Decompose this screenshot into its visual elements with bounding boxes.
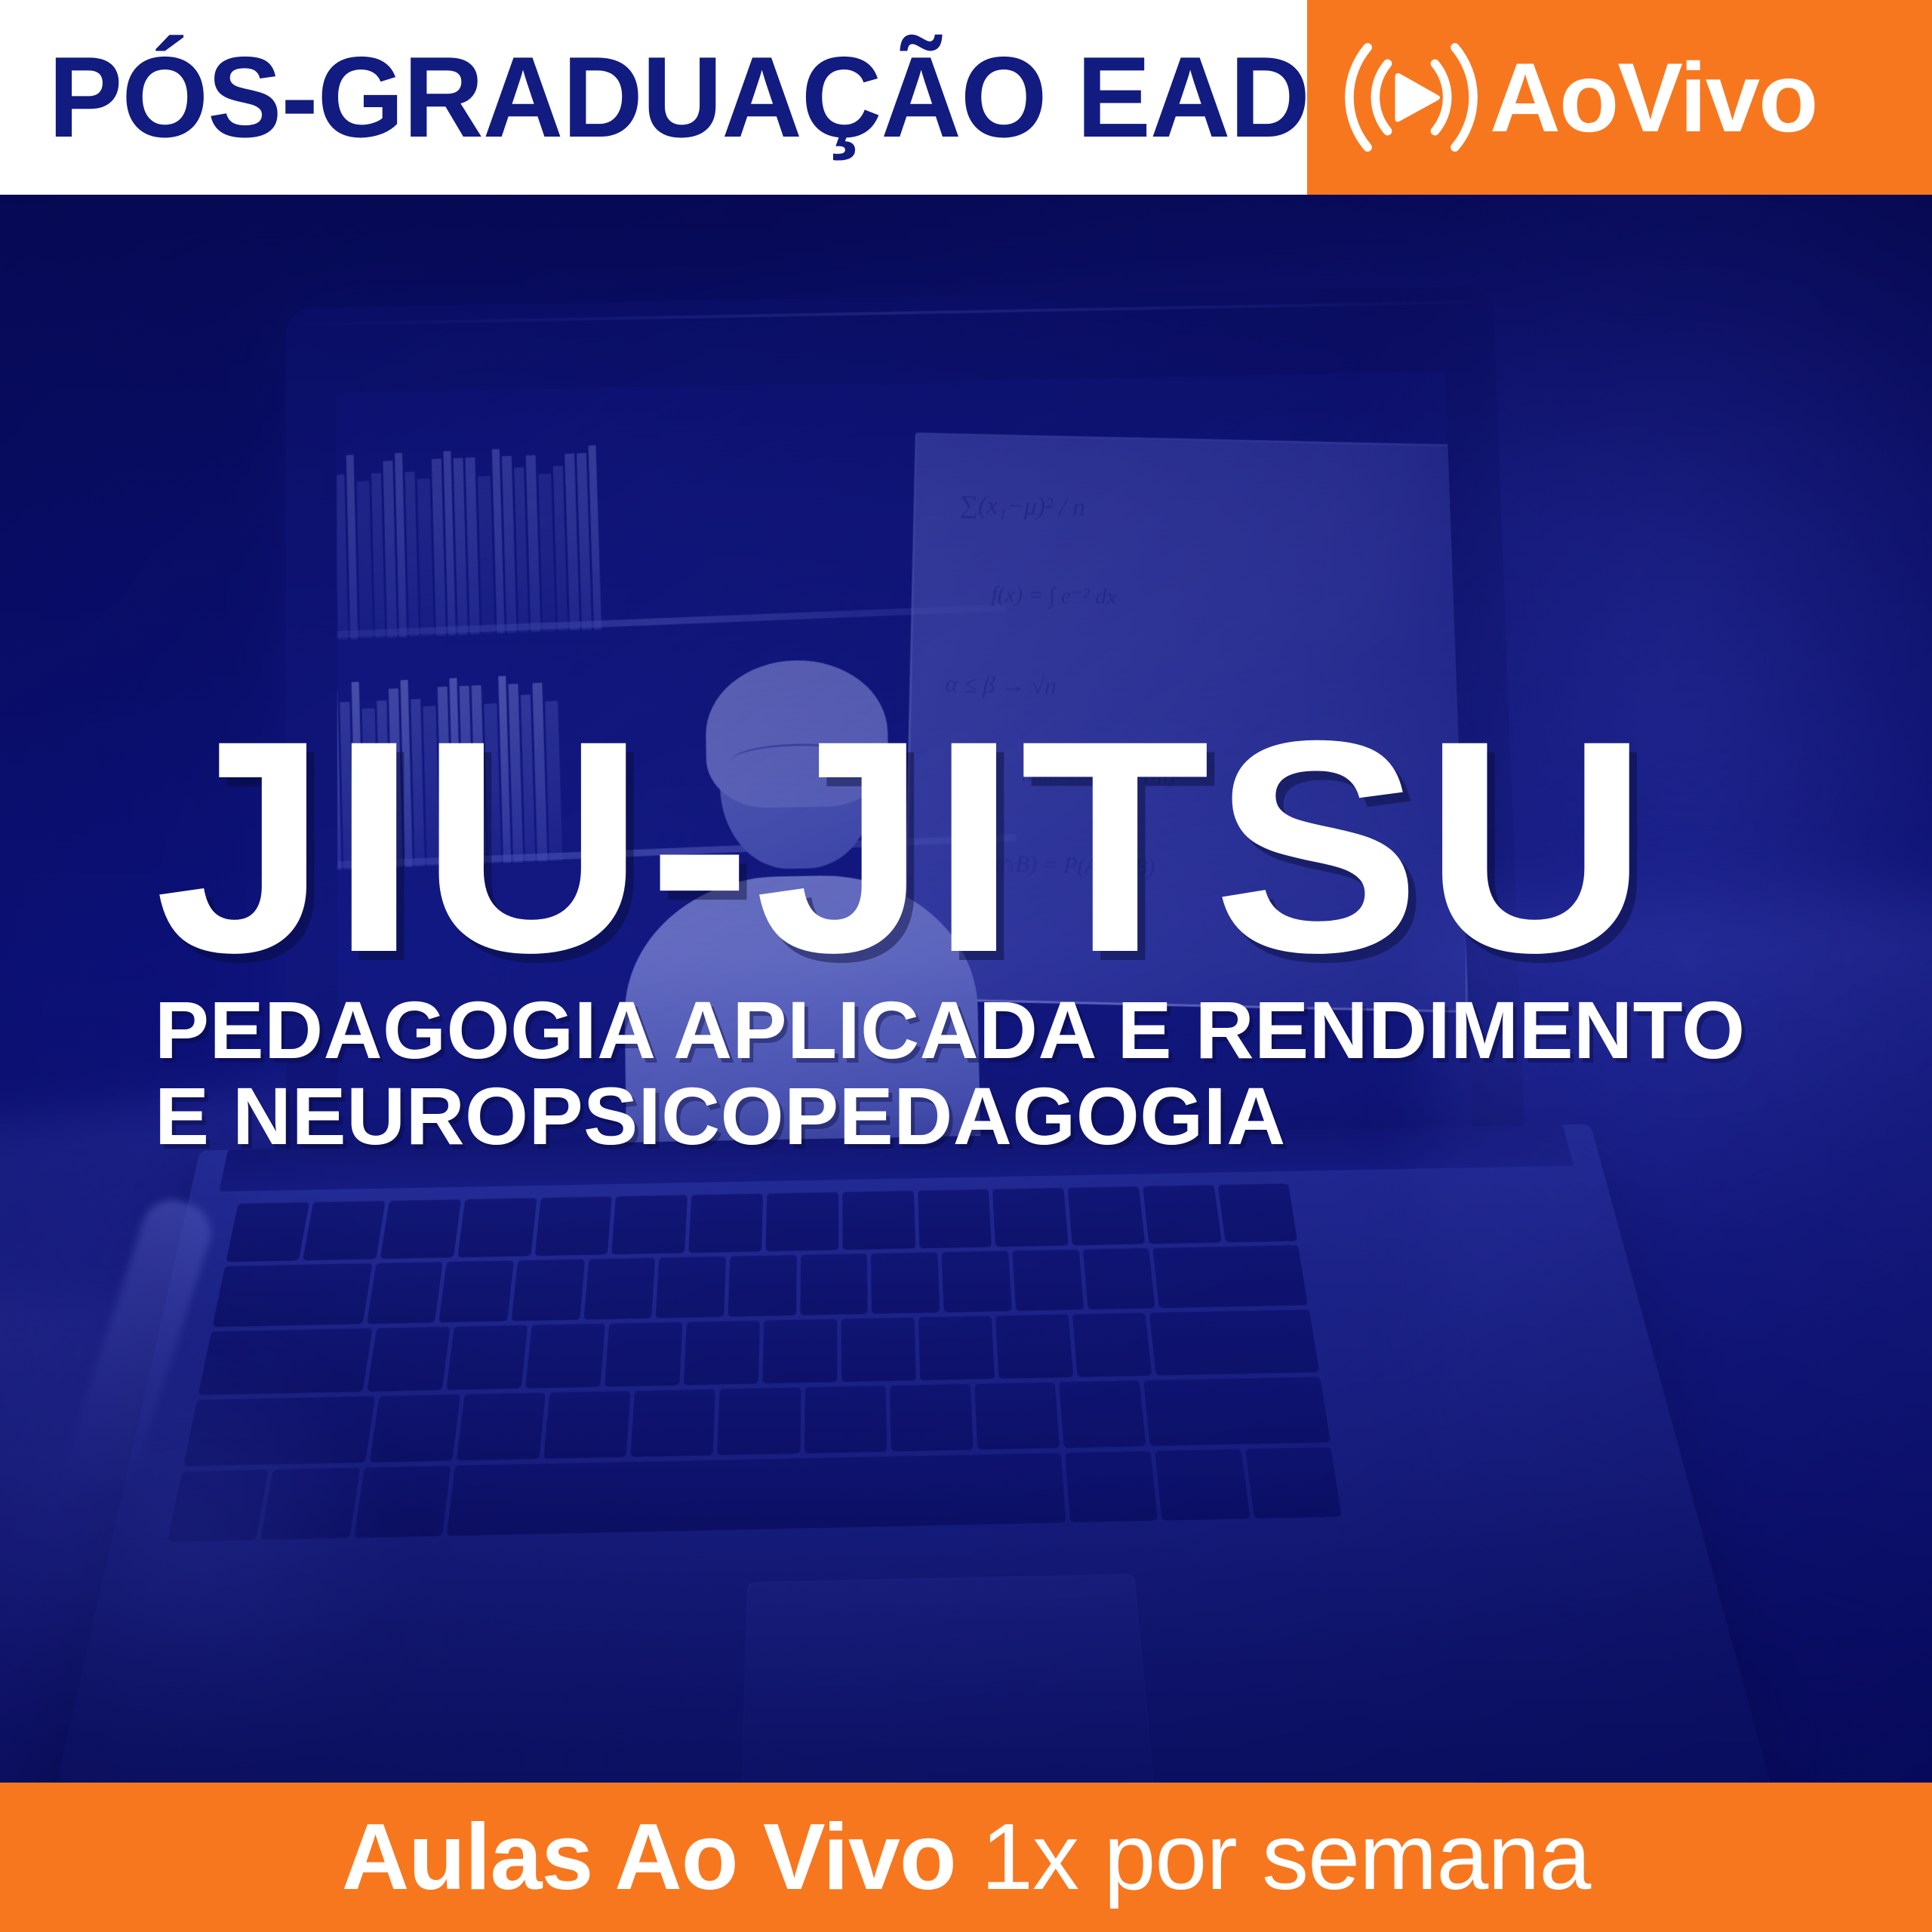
course-subtitle-line-2: E NEUROPSICOPEDAGOGIA — [155, 1073, 1815, 1159]
footer-light-text: 1x por semana — [981, 1805, 1590, 1909]
live-badge: AoVivo — [1307, 0, 1932, 195]
live-broadcast-play-icon — [1337, 32, 1485, 162]
footer-message: Aulas Ao Vivo 1x por semana — [342, 1810, 1591, 1904]
page-kicker: PÓS-GRADUAÇÃO EAD — [48, 40, 1309, 155]
footer-strong-text: Aulas Ao Vivo — [342, 1805, 956, 1909]
promotional-poster: ∑(x₁−μ)² / n f(x) = ∫ e⁻² dx α ≤ β → √n … — [0, 0, 1932, 1932]
live-badge-label: AoVivo — [1490, 48, 1817, 146]
header-bar: PÓS-GRADUAÇÃO EAD AoVivo — [0, 0, 1932, 195]
header-kicker-panel: PÓS-GRADUAÇÃO EAD — [0, 0, 1307, 195]
footer-banner: Aulas Ao Vivo 1x por semana — [0, 1783, 1932, 1932]
course-title: JIU-JITSU — [155, 723, 1865, 971]
hero-text-block: JIU-JITSU PEDAGOGIA APLICADA E RENDIMENT… — [155, 723, 1815, 1160]
